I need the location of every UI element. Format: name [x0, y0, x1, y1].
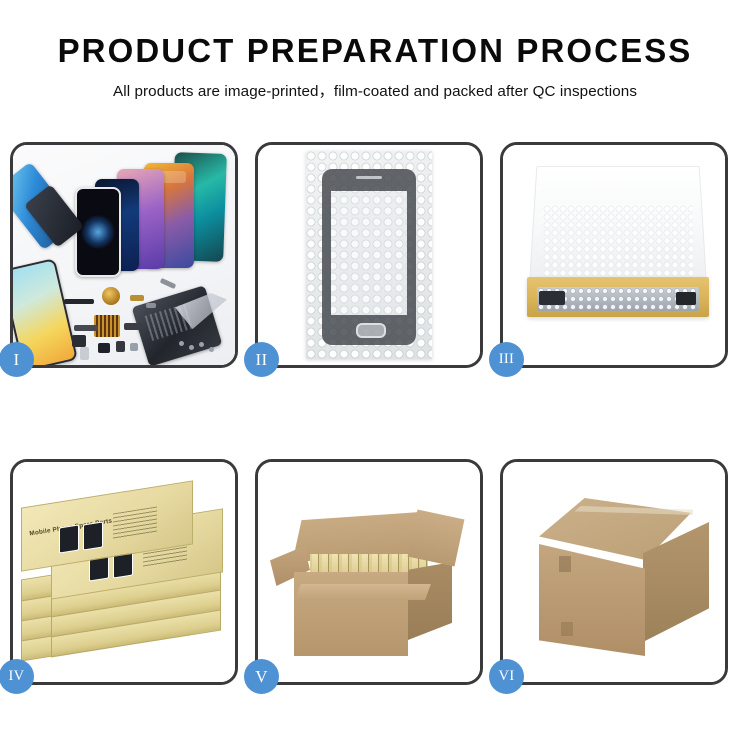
sim-tray-icon	[80, 347, 89, 360]
silver-connector-icon	[146, 303, 156, 308]
step-6-image	[503, 462, 725, 682]
step-4-image: Mobile Phone Spare Parts Mobile Phone Sp…	[13, 462, 235, 682]
earpiece-icon	[356, 176, 382, 179]
process-step-panel-6[interactable]: VI	[500, 459, 728, 685]
box-thumb-image-d	[83, 521, 103, 550]
step-2-image	[258, 145, 480, 365]
step-1-image	[13, 145, 235, 365]
process-step-panel-4[interactable]: Mobile Phone Spare Parts Mobile Phone Sp…	[10, 459, 238, 685]
page-subtitle: All products are image-printed，film-coat…	[0, 79, 750, 101]
carton-flap-right-icon	[408, 510, 465, 567]
home-button-icon	[356, 323, 386, 338]
screw-plate-icon	[130, 343, 138, 351]
spare-parts-cluster	[68, 285, 178, 363]
bubble-wrap-icon	[306, 151, 432, 359]
flex-cable-3-icon	[124, 323, 142, 330]
process-step-panel-5[interactable]: V	[255, 459, 483, 685]
step-badge-6: VI	[489, 659, 524, 694]
page-title: PRODUCT PREPARATION PROCESS	[0, 34, 750, 69]
gold-connector-icon	[130, 295, 144, 301]
camera-module-icon	[98, 343, 110, 353]
foam-insert-icon	[543, 205, 693, 277]
box-thumb-image-c	[59, 524, 79, 553]
antenna-strip-icon	[64, 299, 94, 304]
sealed-carton-front-icon	[539, 544, 645, 656]
phone-front-glass-icon	[75, 187, 121, 277]
vibrator-icon	[116, 341, 125, 352]
phone-screen-assembly-icon	[322, 169, 416, 345]
step-badge-5: V	[244, 659, 279, 694]
wrapped-product-icon	[537, 287, 699, 311]
step-5-image	[258, 462, 480, 682]
carton-flap-front-icon	[295, 584, 431, 600]
speaker-part-icon	[102, 287, 120, 305]
retail-box-stack: Mobile Phone Spare Parts Mobile Phone Sp…	[17, 476, 235, 676]
carton-seam-lower-icon	[561, 622, 573, 636]
step-badge-1: I	[0, 342, 34, 377]
process-step-grid: I II III	[10, 142, 738, 685]
step-3-image	[503, 145, 725, 365]
carton-seam-upper-icon	[559, 556, 571, 572]
step-badge-4: IV	[0, 659, 34, 694]
flex-cable-2-icon	[72, 335, 86, 347]
flex-cable-icon	[74, 325, 98, 331]
step-badge-2: II	[244, 342, 279, 377]
process-step-panel-1[interactable]: I	[10, 142, 238, 368]
process-step-panel-3[interactable]: III	[500, 142, 728, 368]
process-step-panel-2[interactable]: II	[255, 142, 483, 368]
screws-group-icon	[179, 341, 219, 355]
page-header: PRODUCT PREPARATION PROCESS All products…	[0, 0, 750, 101]
carton-side-icon	[408, 562, 452, 640]
step-badge-3: III	[489, 342, 524, 377]
